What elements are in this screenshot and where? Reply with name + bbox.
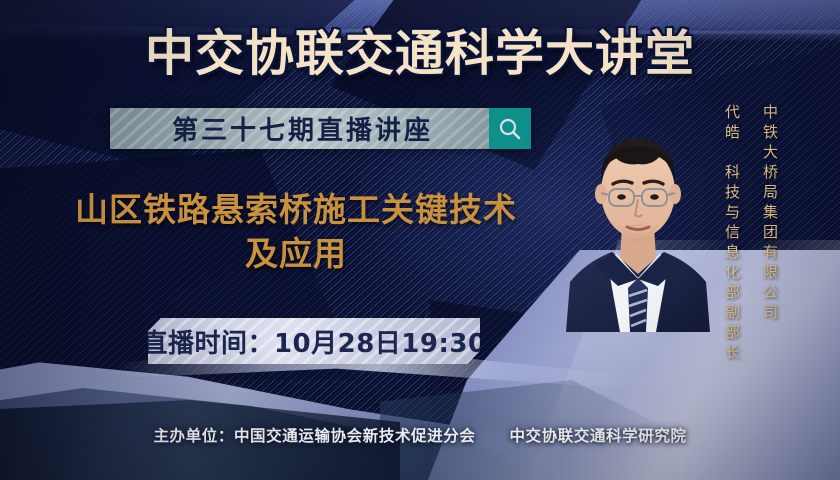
footer: 主办单位：中国交通运输协会新技术促进分会 中交协联交通科学研究院 — [0, 424, 840, 446]
search-button[interactable] — [489, 108, 531, 149]
lecture-title-line-2: 及应用 — [36, 232, 556, 276]
live-lecture-poster: 中交协联交通科学大讲堂 第三十七期直播讲座 山区铁路悬索桥施工关键技术 及应用 … — [0, 0, 840, 480]
footer-organizer: 主办单位：中国交通运输协会新技术促进分会 — [153, 427, 475, 445]
episode-banner-body: 第三十七期直播讲座 — [110, 108, 489, 149]
episode-label: 第三十七期直播讲座 — [166, 110, 433, 147]
speaker-company: 中铁大桥局集团有限公司 — [760, 104, 781, 324]
live-time-label: 直播时间：10月28日19:30 — [148, 323, 480, 360]
live-time-banner: 直播时间：10月28日19:30 — [148, 318, 480, 364]
footer-institute: 中交协联交通科学研究院 — [509, 427, 686, 445]
page-title: 中交协联交通科学大讲堂 — [0, 14, 840, 85]
lecture-title: 山区铁路悬索桥施工关键技术 及应用 — [36, 188, 556, 276]
lecture-title-line-1: 山区铁路悬索桥施工关键技术 — [36, 188, 556, 232]
search-icon — [497, 116, 523, 142]
speaker-portrait — [556, 96, 720, 332]
speaker-name-and-role: 代皓 科技与信息化部副部长 — [722, 104, 743, 364]
episode-banner: 第三十七期直播讲座 — [110, 108, 531, 149]
